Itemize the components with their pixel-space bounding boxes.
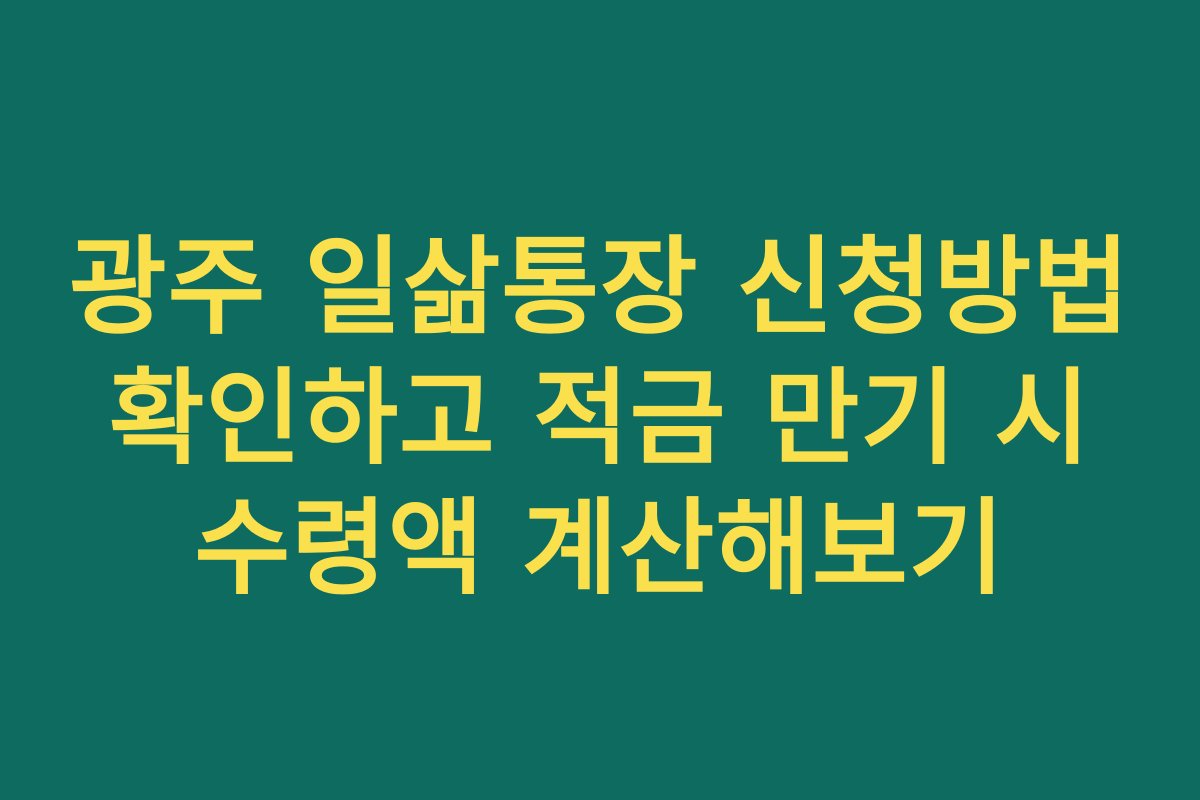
headline-line-1: 광주 일삶통장 신청방법 bbox=[40, 223, 1160, 353]
headline-line-3: 수령액 계산해보기 bbox=[40, 483, 1160, 613]
headline-line-2: 확인하고 적금 만기 시 bbox=[40, 353, 1160, 483]
headline-text-block: 광주 일삶통장 신청방법 확인하고 적금 만기 시 수령액 계산해보기 bbox=[0, 223, 1200, 613]
thumbnail-canvas: 광주 일삶통장 신청방법 확인하고 적금 만기 시 수령액 계산해보기 bbox=[0, 0, 1200, 800]
